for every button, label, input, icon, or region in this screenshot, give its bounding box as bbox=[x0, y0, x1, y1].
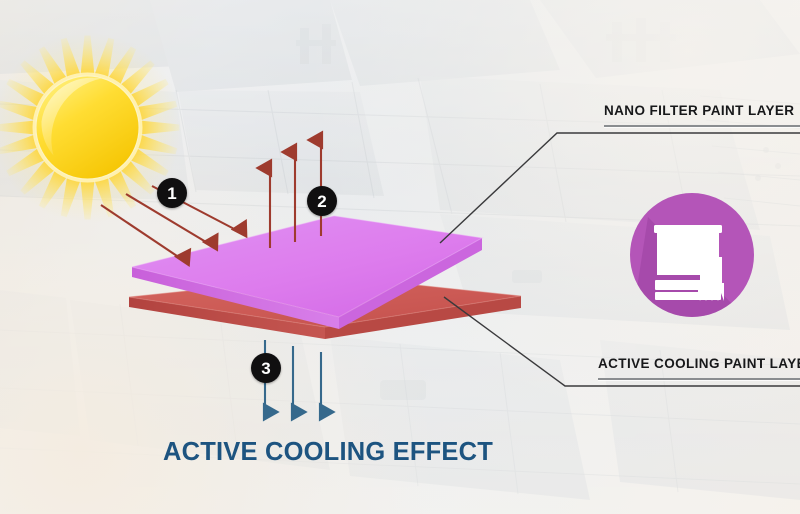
page-title: ACTIVE COOLING EFFECT bbox=[163, 438, 493, 467]
paint-can-and-brush-icon bbox=[622, 185, 762, 325]
badge-3-number: 3 bbox=[261, 360, 270, 377]
badge-2: 2 bbox=[307, 186, 337, 216]
callout-bottom-layer-rule bbox=[598, 378, 800, 380]
callout-top-layer: NANO FILTER PAINT LAYER bbox=[604, 103, 800, 127]
callout-top-layer-label: NANO FILTER PAINT LAYER bbox=[604, 103, 800, 118]
callout-bottom-layer: ACTIVE COOLING PAINT LAYER bbox=[598, 356, 800, 380]
badge-2-number: 2 bbox=[317, 193, 326, 210]
callout-top-layer-rule bbox=[604, 125, 800, 127]
callout-bottom-layer-label: ACTIVE COOLING PAINT LAYER bbox=[598, 356, 800, 371]
badge-1: 1 bbox=[157, 178, 187, 208]
badge-1-number: 1 bbox=[167, 185, 176, 202]
badge-3: 3 bbox=[251, 353, 281, 383]
infographic-canvas: 1 2 3 bbox=[0, 0, 800, 514]
